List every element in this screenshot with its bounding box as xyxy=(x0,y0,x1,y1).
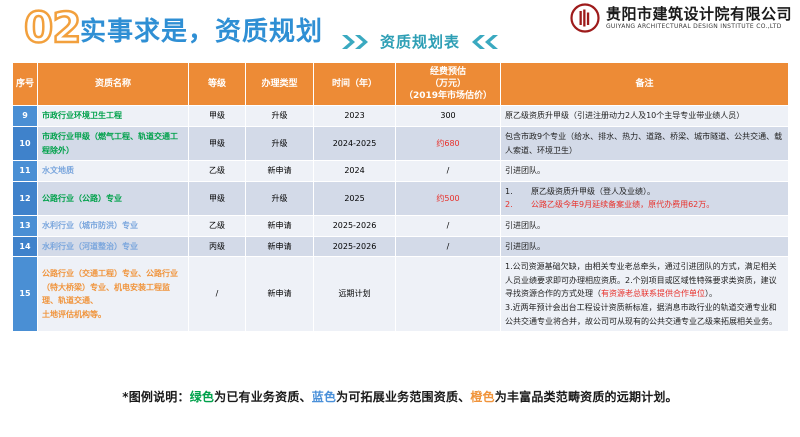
remark-line: 包含市政9个专业（给水、排水、热力、道路、桥梁、城市隧道、公共交通、载人索道、环… xyxy=(505,130,784,157)
remark-line: 引进团队。 xyxy=(505,219,784,233)
legend-prefix: *图例说明： xyxy=(122,390,189,404)
chevron-right-double-icon xyxy=(340,34,374,50)
cost-header-line-1: 经费预估 xyxy=(398,66,498,78)
company-logo: 贵阳市建筑设计院有限公司 GUIYANG ARCHITECTURAL DESIG… xyxy=(570,3,792,33)
table-row: 14水利行业（河道整治）专业丙级新申请2025-2026/引进团队。 xyxy=(13,236,789,257)
remark-cell: 原乙级资质升甲级（引进注册动力2人及10个主导专业带业绩人员） xyxy=(501,106,789,127)
remark-number-text: 原乙级资质升甲级（登人及业绩）。 xyxy=(531,185,784,199)
level-cell: 乙级 xyxy=(189,161,246,182)
legend-orange-text: 为丰富品类范畴资质的远期计划。 xyxy=(495,390,678,404)
row-index-cell: 11 xyxy=(13,161,38,182)
remark-numbered-line: 1.原乙级资质升甲级（登人及业绩）。 xyxy=(505,185,784,199)
remark-cell: 引进团队。 xyxy=(501,161,789,182)
slide-canvas: 02 实事求是，资质规划 资质规划表 贵阳市建筑设计院有 xyxy=(0,0,800,437)
cost-estimate-cell xyxy=(396,257,501,332)
legend-note: *图例说明：绿色为已有业务资质、蓝色为可拓展业务范围资质、橙色为丰富品类范畴资质… xyxy=(0,388,800,405)
legend-blue-word: 蓝色 xyxy=(312,390,336,404)
process-type-cell: 升级 xyxy=(246,127,314,161)
cost-estimate-cell: 约500 xyxy=(396,181,501,215)
remark-number: 2. xyxy=(505,198,531,212)
time-cell: 2025-2026 xyxy=(314,236,396,257)
table-row: 9市政行业环境卫生工程甲级升级2023300原乙级资质升甲级（引进注册动力2人及… xyxy=(13,106,789,127)
row-index-cell: 13 xyxy=(13,215,38,236)
row-index-cell: 9 xyxy=(13,106,38,127)
qualification-name-cell: 公路行业（公路）专业 xyxy=(38,181,189,215)
row-index-cell: 12 xyxy=(13,181,38,215)
logo-company-name-cn: 贵阳市建筑设计院有限公司 xyxy=(606,7,792,22)
row-index-cell: 10 xyxy=(13,127,38,161)
legend-green-word: 绿色 xyxy=(190,390,214,404)
process-type-cell: 新申请 xyxy=(246,215,314,236)
time-cell: 远期计划 xyxy=(314,257,396,332)
cost-estimate-cell: / xyxy=(396,236,501,257)
col-header-remark: 备注 xyxy=(501,63,789,106)
section-number-badge: 02 xyxy=(24,6,80,50)
qualification-name-cell: 市政行业环境卫生工程 xyxy=(38,106,189,127)
chevron-left-double-icon xyxy=(466,34,500,50)
cost-estimate-cell: 约680 xyxy=(396,127,501,161)
col-header-level: 等级 xyxy=(189,63,246,106)
remark-cell: 引进团队。 xyxy=(501,215,789,236)
remark-paragraph: 1.公司资源基础欠缺，由相关专业老总牵头，通过引进团队的方式，满足相关人员业绩要… xyxy=(505,260,784,301)
table-row: 12公路行业（公路）专业甲级升级2025约5001.原乙级资质升甲级（登人及业绩… xyxy=(13,181,789,215)
process-type-cell: 新申请 xyxy=(246,236,314,257)
qualification-name-cell: 水文地质 xyxy=(38,161,189,182)
remark-numbered-line: 2.公路乙级今年9月延续备案业绩，原代办费用62万。 xyxy=(505,198,784,212)
logo-company-name-en: GUIYANG ARCHITECTURAL DESIGN INSTITUTE C… xyxy=(606,24,792,30)
process-type-cell: 升级 xyxy=(246,181,314,215)
remark-cell: 1.原乙级资质升甲级（登人及业绩）。2.公路乙级今年9月延续备案业绩，原代办费用… xyxy=(501,181,789,215)
level-cell: 丙级 xyxy=(189,236,246,257)
table-row: 10市政行业甲级（燃气工程、轨道交通工程除外）甲级升级2024-2025约680… xyxy=(13,127,789,161)
time-cell: 2024 xyxy=(314,161,396,182)
remark-number-text: 公路乙级今年9月延续备案业绩，原代办费用62万。 xyxy=(531,198,784,212)
qualification-name-cell: 水利行业（河道整治）专业 xyxy=(38,236,189,257)
subtitle-banner: 资质规划表 xyxy=(340,31,500,52)
qualification-name-cell: 水利行业（城市防洪）专业 xyxy=(38,215,189,236)
cost-header-line-3: （2019年市场估价） xyxy=(398,90,498,102)
page-title: 实事求是，资质规划 xyxy=(80,11,323,48)
col-header-index: 序号 xyxy=(13,63,38,106)
process-type-cell: 新申请 xyxy=(246,257,314,332)
level-cell: / xyxy=(189,257,246,332)
cost-estimate-cell: 300 xyxy=(396,106,501,127)
logo-text-block: 贵阳市建筑设计院有限公司 GUIYANG ARCHITECTURAL DESIG… xyxy=(606,7,792,30)
table-row: 11水文地质乙级新申请2024/引进团队。 xyxy=(13,161,789,182)
table-header-row: 序号 资质名称 等级 办理类型 时间（年） 经费预估 （万元） （2019年市场… xyxy=(13,63,789,106)
row-index-cell: 14 xyxy=(13,236,38,257)
remark-cell: 1.公司资源基础欠缺，由相关专业老总牵头，通过引进团队的方式，满足相关人员业绩要… xyxy=(501,257,789,332)
level-cell: 甲级 xyxy=(189,127,246,161)
cost-estimate-cell: / xyxy=(396,215,501,236)
remark-segment: 3.近两年预计会出台工程设计资质新标准，据消息市政行业的轨道交通专业和公共交通专… xyxy=(505,303,777,326)
remark-line: 引进团队。 xyxy=(505,240,784,254)
level-cell: 甲级 xyxy=(189,106,246,127)
col-header-qualification-name: 资质名称 xyxy=(38,63,189,106)
table-body: 9市政行业环境卫生工程甲级升级2023300原乙级资质升甲级（引进注册动力2人及… xyxy=(13,106,789,332)
col-header-process-type: 办理类型 xyxy=(246,63,314,106)
table-row: 13水利行业（城市防洪）专业乙级新申请2025-2026/引进团队。 xyxy=(13,215,789,236)
logo-emblem-icon xyxy=(570,3,600,33)
time-cell: 2023 xyxy=(314,106,396,127)
col-header-time-year: 时间（年） xyxy=(314,63,396,106)
process-type-cell: 新申请 xyxy=(246,161,314,182)
qualification-name-cell: 公路行业（交通工程）专业、公路行业（特大桥梁）专业、机电安装工程监理、轨道交通、… xyxy=(38,257,189,332)
remark-segment: ）。 xyxy=(705,289,717,298)
remark-cell: 引进团队。 xyxy=(501,236,789,257)
remark-line: 引进团队。 xyxy=(505,164,784,178)
remark-paragraph: 3.近两年预计会出台工程设计资质新标准，据消息市政行业的轨道交通专业和公共交通专… xyxy=(505,301,784,328)
qualification-name-cell: 市政行业甲级（燃气工程、轨道交通工程除外） xyxy=(38,127,189,161)
legend-orange-word: 橙色 xyxy=(470,390,494,404)
remark-number: 1. xyxy=(505,185,531,199)
level-cell: 甲级 xyxy=(189,181,246,215)
cost-header-line-2: （万元） xyxy=(398,78,498,90)
time-cell: 2025 xyxy=(314,181,396,215)
col-header-cost-estimate: 经费预估 （万元） （2019年市场估价） xyxy=(396,63,501,106)
qualification-plan-table: 序号 资质名称 等级 办理类型 时间（年） 经费预估 （万元） （2019年市场… xyxy=(12,62,789,332)
legend-green-text: 为已有业务资质、 xyxy=(214,390,312,404)
remark-line: 原乙级资质升甲级（引进注册动力2人及10个主导专业带业绩人员） xyxy=(505,109,784,123)
remark-segment: 有资源老总联系提供合作单位 xyxy=(601,289,705,298)
row-index-cell: 15 xyxy=(13,257,38,332)
time-cell: 2024-2025 xyxy=(314,127,396,161)
table-row: 15公路行业（交通工程）专业、公路行业（特大桥梁）专业、机电安装工程监理、轨道交… xyxy=(13,257,789,332)
subtitle-text: 资质规划表 xyxy=(380,31,460,52)
legend-blue-text: 为可拓展业务范围资质、 xyxy=(336,390,470,404)
cost-estimate-cell: / xyxy=(396,161,501,182)
remark-cell: 包含市政9个专业（给水、排水、热力、道路、桥梁、城市隧道、公共交通、载人索道、环… xyxy=(501,127,789,161)
process-type-cell: 升级 xyxy=(246,106,314,127)
time-cell: 2025-2026 xyxy=(314,215,396,236)
level-cell: 乙级 xyxy=(189,215,246,236)
